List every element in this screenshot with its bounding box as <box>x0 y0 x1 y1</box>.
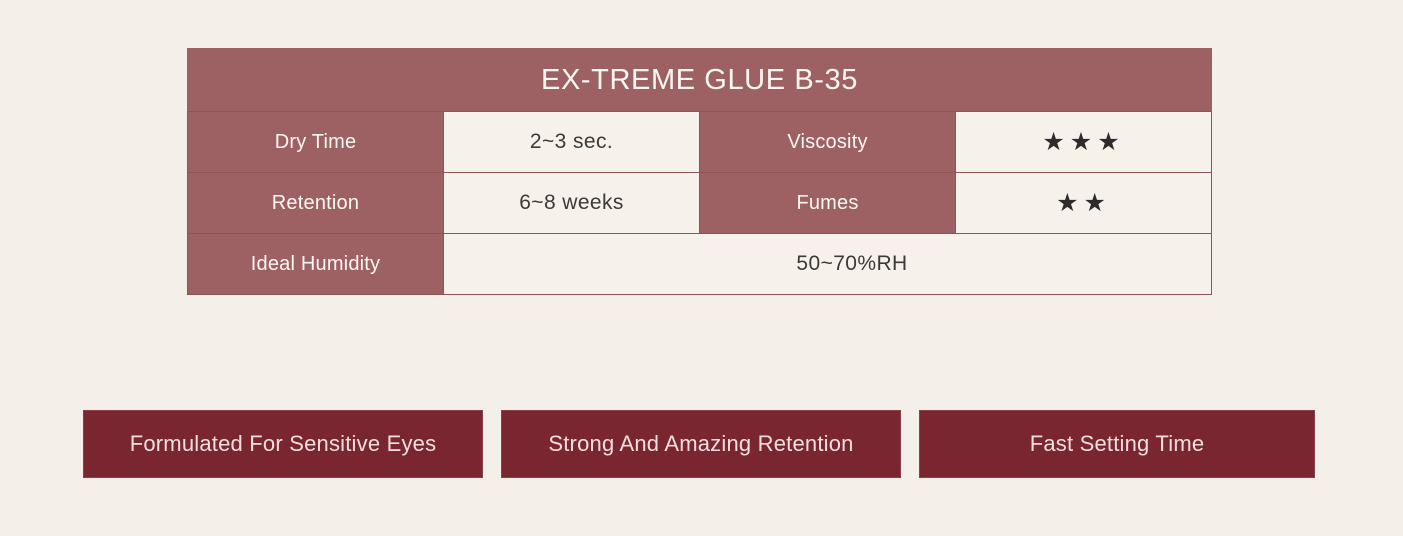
table-row: Retention 6~8 weeks Fumes ★★ <box>188 173 1212 234</box>
feature-banner-group: Formulated For Sensitive Eyes Strong And… <box>83 410 1315 478</box>
spec-label-fumes: Fumes <box>700 173 956 234</box>
star-rating-icon: ★★★ <box>1042 130 1124 155</box>
spec-value-ideal-humidity-cell: 50~70%RH <box>444 234 1212 295</box>
spec-label-retention: Retention <box>188 173 444 234</box>
spec-label-dry-time: Dry Time <box>188 112 444 173</box>
feature-banner-retention: Strong And Amazing Retention <box>501 410 901 478</box>
table-row: Dry Time 2~3 sec. Viscosity ★★★ <box>188 112 1212 173</box>
feature-banner-fast-setting: Fast Setting Time <box>919 410 1315 478</box>
spec-value-fumes-rating: ★★ <box>956 173 1212 234</box>
spec-label-ideal-humidity: Ideal Humidity <box>188 234 444 295</box>
product-title: EX-TREME GLUE B-35 <box>188 49 1212 112</box>
spec-label-viscosity: Viscosity <box>700 112 956 173</box>
feature-banner-label: Formulated For Sensitive Eyes <box>130 431 437 457</box>
table-title-row: EX-TREME GLUE B-35 <box>188 49 1212 112</box>
feature-banner-sensitive-eyes: Formulated For Sensitive Eyes <box>83 410 483 478</box>
spec-value-retention: 6~8 weeks <box>444 173 700 234</box>
star-rating-icon: ★★ <box>1056 191 1111 216</box>
feature-banner-label: Strong And Amazing Retention <box>548 431 853 457</box>
spec-value-viscosity-rating: ★★★ <box>956 112 1212 173</box>
table-row: Ideal Humidity 50~70%RH <box>188 234 1212 295</box>
spec-value-ideal-humidity: 50~70%RH <box>436 252 1268 276</box>
spec-table: EX-TREME GLUE B-35 Dry Time 2~3 sec. Vis… <box>187 48 1212 295</box>
feature-banner-label: Fast Setting Time <box>1030 431 1205 457</box>
spec-value-dry-time: 2~3 sec. <box>444 112 700 173</box>
